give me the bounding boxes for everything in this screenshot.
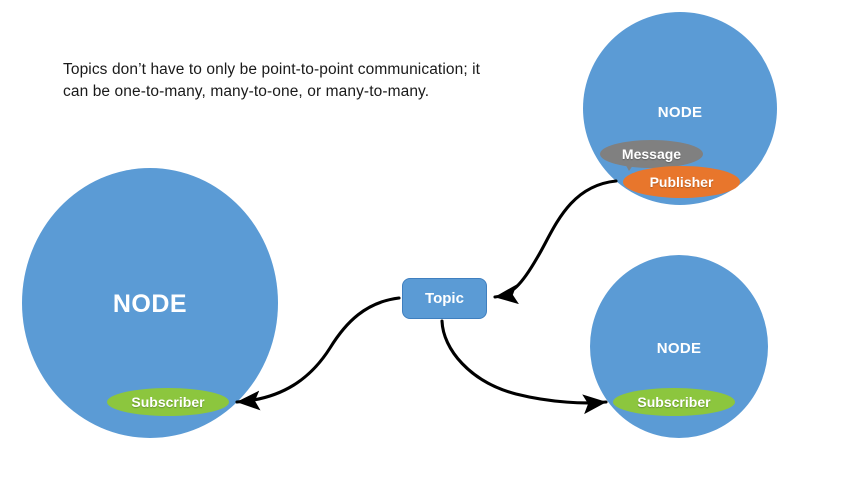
arrow-publisher-to-topic	[495, 181, 616, 297]
arrow-topic-to-left-subscriber	[237, 298, 399, 402]
diagram-canvas: Topics don’t have to only be point-to-po…	[0, 0, 854, 480]
arrow-topic-to-bottom-right-subscriber	[442, 321, 606, 403]
connector-layer	[0, 0, 854, 480]
